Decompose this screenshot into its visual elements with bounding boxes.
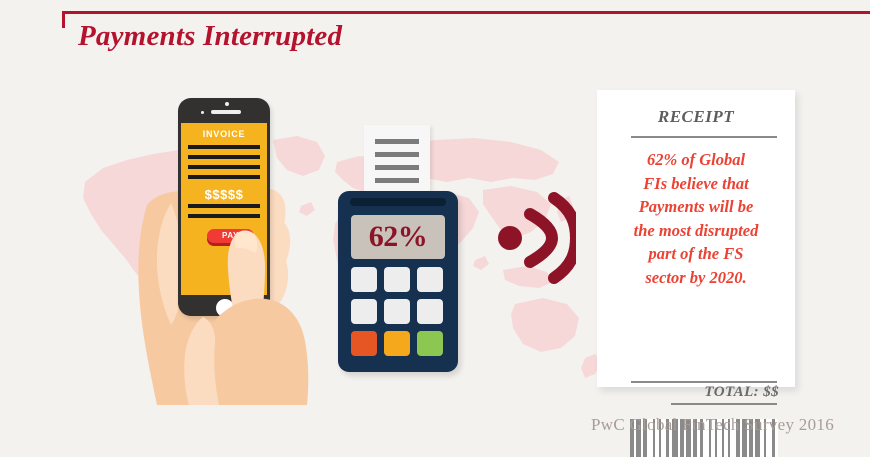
receipt-heading: RECEIPT: [597, 107, 795, 127]
terminal-key[interactable]: [351, 299, 377, 324]
infographic-canvas: Payments Interrupted: [0, 0, 870, 457]
terminal-clear-key[interactable]: [384, 331, 410, 356]
receipt-card: RECEIPT 62% of Global FIs believe that P…: [597, 90, 795, 387]
terminal-key[interactable]: [417, 299, 443, 324]
receipt-line: FIs believe that: [643, 174, 748, 193]
terminal-display: 62%: [351, 215, 445, 259]
terminal-enter-key[interactable]: [417, 331, 443, 356]
terminal-key[interactable]: [384, 267, 410, 292]
payment-terminal-illustration: 62%: [330, 120, 475, 380]
header-rule-tick: [62, 11, 65, 28]
phone-with-hand-illustration: INVOICE $$$$$ PAY: [95, 85, 325, 405]
receipt-divider-bottom: [671, 403, 777, 405]
receipt-divider-middle: [631, 381, 777, 383]
receipt-line: the most disrupted: [634, 221, 759, 240]
page-title: Payments Interrupted: [78, 20, 342, 53]
slip-text-line: [375, 152, 419, 157]
receipt-line: part of the FS: [649, 244, 744, 263]
receipt-line: 62% of Global: [647, 150, 745, 169]
pointing-hand-illustration: [95, 85, 325, 405]
receipt-total: TOTAL: $$: [597, 384, 779, 401]
header-rule: [62, 11, 870, 14]
slip-text-line: [375, 178, 419, 183]
receipt-line: Payments will be: [639, 197, 754, 216]
receipt-line: sector by 2020.: [645, 268, 746, 287]
receipt-divider-top: [631, 136, 777, 138]
receipt-statistic-text: 62% of Global FIs believe that Payments …: [611, 148, 781, 289]
terminal-paper-slot: [350, 198, 446, 206]
terminal-key[interactable]: [417, 267, 443, 292]
slip-text-line: [375, 165, 419, 170]
slip-text-line: [375, 139, 419, 144]
terminal-key[interactable]: [351, 267, 377, 292]
contactless-wifi-icon: [496, 192, 576, 284]
terminal-key[interactable]: [384, 299, 410, 324]
terminal-cancel-key[interactable]: [351, 331, 377, 356]
source-citation: PwC Global FinTech Survey 2016: [591, 415, 834, 435]
